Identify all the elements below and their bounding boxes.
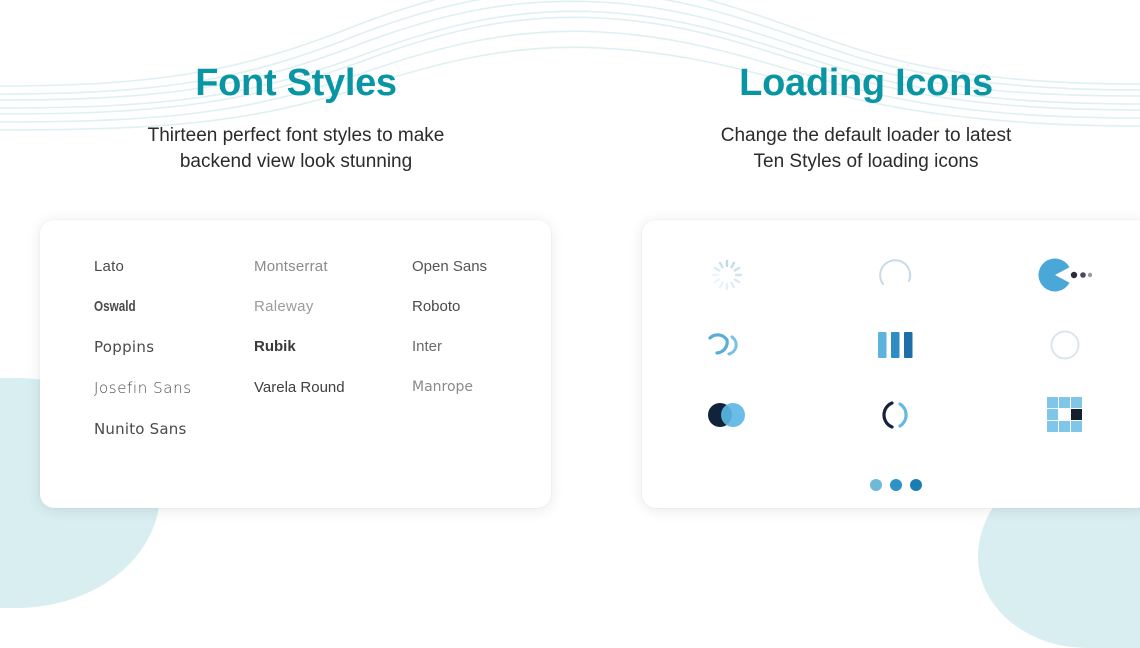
spinner-ticks-icon	[710, 258, 744, 292]
loading-icons-subtitle-line1: Change the default loader to latest	[592, 123, 1140, 149]
loader-cell-three-bars[interactable]	[811, 310, 980, 380]
font-item-poppins[interactable]: Poppins	[94, 338, 254, 356]
loader-cell-ring-outline[interactable]	[981, 310, 1140, 380]
font-styles-title: Font Styles	[0, 0, 592, 105]
loader-cell-three-dots[interactable]	[642, 450, 1140, 520]
font-item-roboto[interactable]: Roboto	[412, 298, 512, 315]
arc-circle-icon	[876, 255, 916, 295]
font-item-nunito-sans[interactable]: Nunito Sans	[94, 420, 254, 438]
loading-icons-panel: Loading Icons Change the default loader …	[592, 0, 1140, 578]
loading-icons-title: Loading Icons	[592, 0, 1140, 105]
pacman-dots-icon	[1038, 258, 1092, 292]
font-item-josefin-sans[interactable]: Josefin Sans	[94, 379, 254, 397]
loader-cell-square-grid[interactable]	[981, 380, 1140, 450]
font-item-oswald[interactable]: Oswald	[94, 298, 219, 315]
font-styles-subtitle-line1: Thirteen perfect font styles to make	[0, 123, 592, 149]
dual-arc-icon	[705, 328, 749, 362]
font-list: Lato Montserrat Open Sans Oswald Raleway…	[94, 258, 514, 438]
font-item-inter[interactable]: Inter	[412, 338, 512, 356]
font-styles-card: Lato Montserrat Open Sans Oswald Raleway…	[40, 220, 551, 508]
loading-icons-subtitle: Change the default loader to latest Ten …	[592, 105, 1140, 175]
three-bars-icon	[876, 330, 916, 360]
font-item-lato[interactable]: Lato	[94, 258, 254, 275]
loader-cell-pacman-dots[interactable]	[981, 240, 1140, 310]
font-styles-panel: Font Styles Thirteen perfect font styles…	[0, 0, 592, 578]
font-item-montserrat[interactable]: Montserrat	[254, 258, 412, 275]
loading-icons-card	[642, 220, 1140, 508]
two-circles-icon	[704, 400, 750, 430]
loader-cell-two-circles[interactable]	[642, 380, 811, 450]
font-item-rubik[interactable]: Rubik	[254, 338, 412, 356]
square-grid-icon	[1047, 397, 1083, 433]
font-item-varela-round[interactable]: Varela Round	[254, 379, 412, 397]
loader-cell-spinner-ticks[interactable]	[642, 240, 811, 310]
font-item-manrope[interactable]: Manrope	[412, 379, 512, 397]
loader-cell-arc-circle[interactable]	[811, 240, 980, 310]
loader-cell-facing-brackets[interactable]	[811, 380, 980, 450]
loader-list	[642, 240, 1140, 520]
loader-cell-dual-arc[interactable]	[642, 310, 811, 380]
font-item-raleway[interactable]: Raleway	[254, 298, 412, 315]
font-styles-subtitle: Thirteen perfect font styles to make bac…	[0, 105, 592, 175]
font-item-open-sans[interactable]: Open Sans	[412, 258, 512, 275]
three-dots-icon	[868, 476, 924, 494]
ring-outline-icon	[1048, 328, 1082, 362]
font-styles-subtitle-line2: backend view look stunning	[0, 149, 592, 175]
facing-brackets-icon	[877, 398, 915, 432]
loading-icons-subtitle-line2: Ten Styles of loading icons	[592, 149, 1140, 175]
